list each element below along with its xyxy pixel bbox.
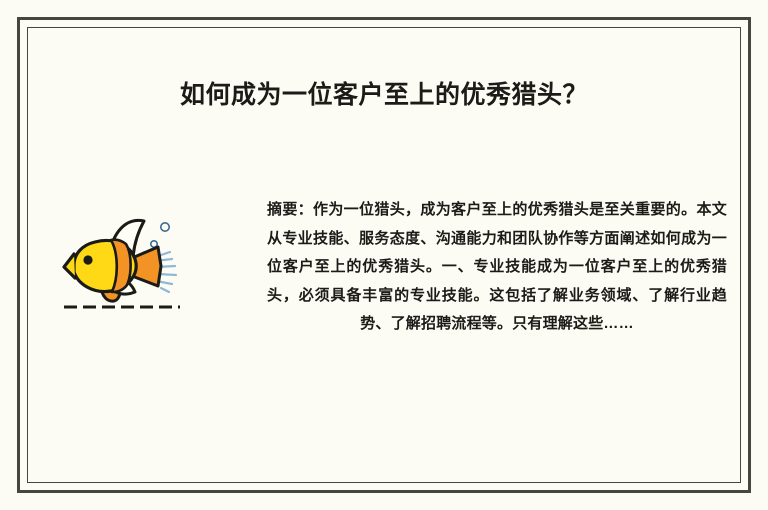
article-summary: 摘要：作为一位猎头，成为客户至上的优秀猎头是至关重要的。本文从专业技能、服务态度… (267, 196, 727, 339)
page-title: 如何成为一位客户至上的优秀猎头？ (0, 78, 768, 112)
fish-snout (64, 254, 75, 278)
article-card: 如何成为一位客户至上的优秀猎头？ (0, 0, 768, 510)
tropical-fish-icon (62, 214, 192, 314)
article-body: 摘要：作为一位猎头，成为客户至上的优秀猎头是至关重要的。本文从专业技能、服务态度… (40, 196, 730, 396)
fish-eye (83, 255, 92, 264)
fish-illustration (62, 214, 192, 314)
